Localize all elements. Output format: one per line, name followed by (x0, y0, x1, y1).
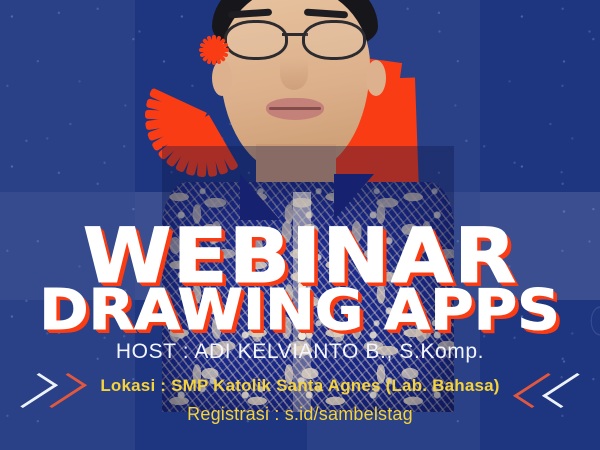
sunburst-ray (212, 35, 216, 50)
headline-secondary: DRAWING APPS (0, 282, 600, 339)
sunburst-ray (199, 48, 214, 52)
glasses-icon (224, 20, 366, 54)
presenter-lips (266, 98, 324, 120)
glasses-lens-right (302, 20, 366, 60)
glasses-lens-left (224, 20, 288, 60)
presenter-ear-left (212, 60, 232, 96)
location-label: Lokasi : SMP Katolik Santa Agnes (Lab. B… (0, 376, 600, 396)
webinar-poster: WEBINAR DRAWING APPS HOST : ADI KELVIANT… (0, 0, 600, 450)
headline-secondary-text: DRAWING APPS (40, 283, 561, 339)
registration-label: Registrasi : s.id/sambelstag (0, 404, 600, 425)
host-label: HOST : ADI KELVIANTO B., S.Komp. (0, 340, 600, 364)
presenter-ear-right (366, 60, 386, 96)
presenter-nose (280, 58, 308, 90)
